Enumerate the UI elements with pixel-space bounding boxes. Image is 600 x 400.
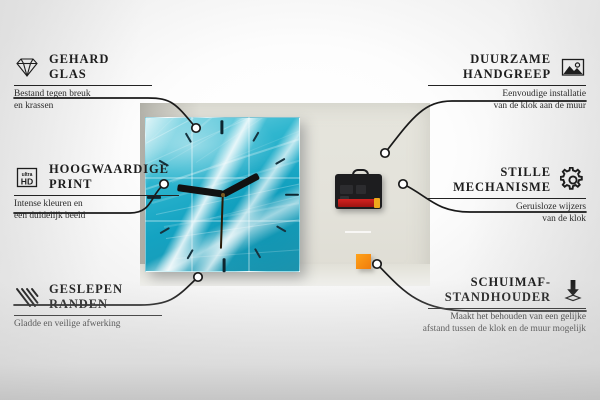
feature-gehard-glas: GEHARD GLAS Bestand tegen breuk en krass… xyxy=(14,52,204,112)
feature-title: STILLE MECHANISME xyxy=(396,165,551,195)
picture-frame-icon xyxy=(560,54,586,80)
clock-mechanism xyxy=(335,169,382,209)
feature-header: DUURZAME HANDGREEP xyxy=(396,52,586,82)
feature-geslepen-randen: GESLEPEN RANDEN Gladde en veilige afwerk… xyxy=(14,282,204,331)
feature-duurzame-handgreep: DUURZAME HANDGREEP Eenvoudige installati… xyxy=(396,52,586,112)
feature-header: ultra HD HOOGWAARDIGE PRINT xyxy=(14,162,204,192)
feature-header: GEHARD GLAS xyxy=(14,52,204,82)
press-down-arrow-icon xyxy=(560,277,586,303)
feature-description: Geruisloze wijzers van de klok xyxy=(396,202,586,225)
mechanism-detail-1 xyxy=(340,185,353,194)
gear-icon xyxy=(560,167,586,193)
battery-label-stripe xyxy=(345,231,371,233)
feature-description: Maakt het behouden van een gelijke afsta… xyxy=(396,312,586,335)
ultra-hd-icon: ultra HD xyxy=(14,164,40,190)
feature-title: GESLEPEN RANDEN xyxy=(49,282,123,312)
feature-header: STILLE MECHANISME xyxy=(396,165,586,195)
battery-positive-cap xyxy=(374,198,380,208)
diamond-icon xyxy=(14,54,40,80)
feature-title: SCHUIMAF- STANDHOUDER xyxy=(396,275,551,305)
feature-title: DUURZAME HANDGREEP xyxy=(396,52,551,82)
feature-description: Bestand tegen breuk en krassen xyxy=(14,89,204,112)
feature-title: GEHARD GLAS xyxy=(49,52,109,82)
feature-divider xyxy=(428,85,586,86)
feature-description: Gladde en veilige afwerking xyxy=(14,319,204,331)
feature-description: Eenvoudige installatie van de klok aan d… xyxy=(396,89,586,112)
feature-hoogwaardige-print: ultra HD HOOGWAARDIGE PRINT Intense kleu… xyxy=(14,162,204,222)
feature-divider xyxy=(14,85,152,86)
feature-schuimafstandhouder: SCHUIMAF- STANDHOUDER Maakt het behouden… xyxy=(396,275,586,335)
feature-title: HOOGWAARDIGE PRINT xyxy=(49,162,169,192)
feature-divider xyxy=(428,198,586,199)
battery xyxy=(338,199,379,207)
foam-spacer xyxy=(356,254,371,269)
feature-divider xyxy=(14,195,179,196)
feature-header: SCHUIMAF- STANDHOUDER xyxy=(396,275,586,305)
svg-text:HD: HD xyxy=(21,177,33,187)
diagonal-lines-icon xyxy=(14,284,40,310)
clock-tick xyxy=(223,258,226,272)
face-gridline-v2 xyxy=(248,117,250,272)
feature-stille-mechanisme: STILLE MECHANISME Geruisloze wijzers van… xyxy=(396,165,586,225)
feature-description: Intense kleuren en een duidelijk beeld xyxy=(14,199,204,222)
clock-tick xyxy=(285,193,299,196)
infographic-canvas: GEHARD GLAS Bestand tegen breuk en krass… xyxy=(0,0,600,400)
clock-center-pin xyxy=(221,193,225,197)
feature-divider xyxy=(14,315,162,316)
feature-divider xyxy=(428,308,586,309)
feature-header: GESLEPEN RANDEN xyxy=(14,282,204,312)
clock-tick xyxy=(220,120,223,134)
mechanism-detail-2 xyxy=(356,185,366,194)
